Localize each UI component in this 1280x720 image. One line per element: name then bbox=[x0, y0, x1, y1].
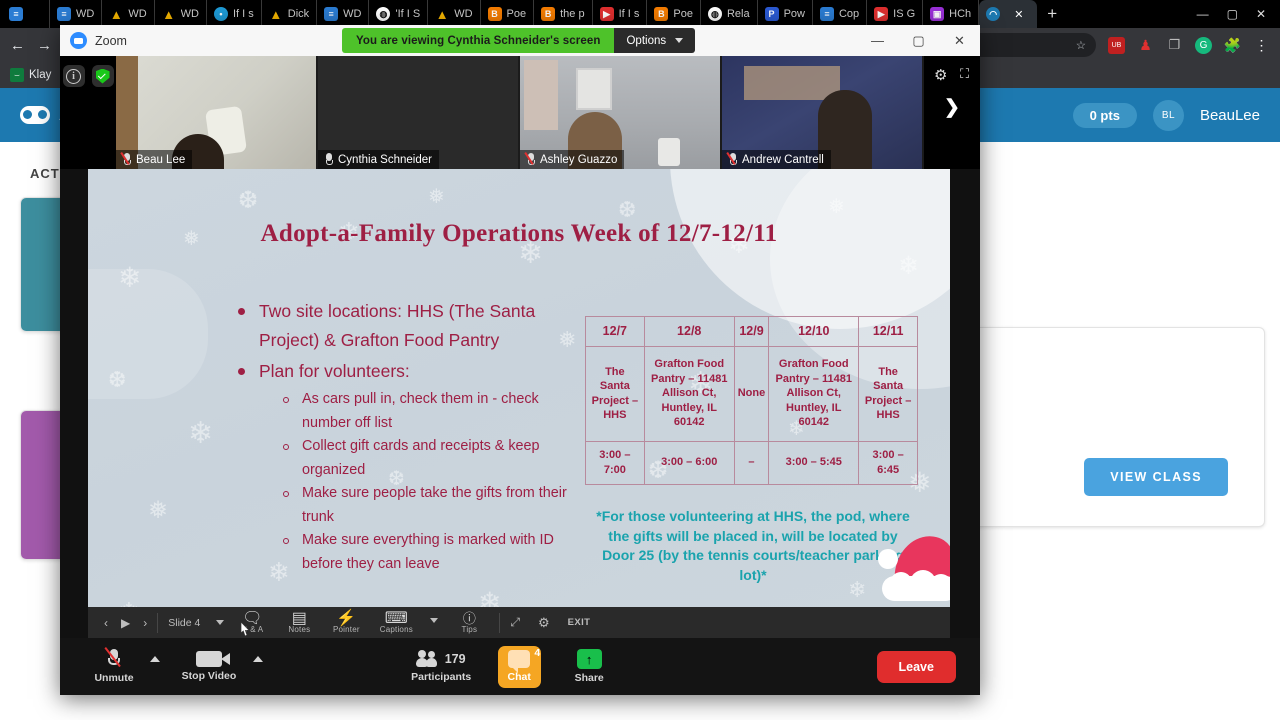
bookmark-icon: ⌣ bbox=[10, 68, 24, 82]
mic-off-icon bbox=[123, 153, 131, 166]
browser-tab[interactable]: ◍'If I S bbox=[369, 0, 428, 28]
bullet-text: Two site locations: HHS (The Santa Proje… bbox=[259, 297, 573, 355]
tips-label: Tips bbox=[462, 625, 478, 634]
table-header-cell: 12/9 bbox=[734, 317, 769, 347]
mouse-cursor-icon bbox=[240, 622, 252, 638]
tab-label: WD bbox=[128, 8, 146, 20]
table-cell-time: 3:00 – 6:00 bbox=[644, 441, 734, 484]
forward-icon[interactable]: → bbox=[37, 37, 52, 54]
santa-hat-icon bbox=[878, 534, 950, 609]
tab-label: IS G bbox=[893, 8, 915, 20]
table-cell-location: The Santa Project – HHS bbox=[586, 346, 645, 441]
youtube-icon: ▶ bbox=[874, 7, 888, 21]
notes-label: Notes bbox=[288, 625, 310, 634]
participant-nameplate: Andrew Cantrell bbox=[722, 150, 831, 169]
table-header-cell: 12/8 bbox=[644, 317, 734, 347]
close-icon[interactable]: ✕ bbox=[1014, 8, 1023, 21]
chat-label: Chat bbox=[508, 671, 531, 683]
puzzle-icon[interactable]: 🧩 bbox=[1224, 37, 1241, 54]
bullet-text: Make sure people take the gifts from the… bbox=[302, 482, 573, 529]
snowflake-icon: ❆ bbox=[618, 199, 636, 221]
zoom-bar-right: Leave bbox=[877, 651, 980, 683]
browser-tab[interactable]: ▶If I s bbox=[593, 0, 648, 28]
info-icon: i bbox=[66, 69, 81, 84]
divider bbox=[499, 613, 500, 633]
table-row: 3:00 – 7:00 3:00 – 6:00 – 3:00 – 5:45 3:… bbox=[586, 441, 918, 484]
snowflake-icon: ❅ bbox=[148, 499, 168, 523]
notes-icon: ▤ bbox=[292, 612, 307, 624]
video-tile[interactable]: Cynthia Schneider bbox=[318, 56, 520, 169]
card-color-stripe bbox=[21, 411, 61, 559]
shared-slide: ❄ ❅ ❆ ❄ ❅ ❄ ❆ ❄ ❅ ❄ ❆ ❄ ❅ ❄ ❆ ❄ ❅ ❄ ❆ ❄ … bbox=[88, 169, 950, 638]
table-cell-location: None bbox=[734, 346, 769, 441]
snowflake-icon: ❄ bbox=[898, 254, 919, 279]
zoom-control-bar: Unmute Stop Video 179 bbox=[60, 638, 980, 695]
participants-label: Participants bbox=[411, 671, 471, 683]
fit-screen-icon[interactable]: ⤢ bbox=[510, 615, 520, 630]
table-row: The Santa Project – HHS Grafton Food Pan… bbox=[586, 346, 918, 441]
browser-tab[interactable]: ▲Dick bbox=[262, 0, 317, 28]
maximize-icon[interactable]: ▢ bbox=[898, 25, 939, 56]
tab-label: Poe bbox=[673, 8, 693, 20]
card-color-stripe bbox=[21, 198, 61, 331]
tab-label: WD bbox=[343, 8, 361, 20]
zoom-window-title: Zoom bbox=[95, 34, 127, 48]
tab-label: Rela bbox=[727, 8, 750, 20]
stop-video-label: Stop Video bbox=[182, 670, 237, 682]
doc-icon: ≡ bbox=[9, 7, 23, 21]
minimize-icon[interactable]: — bbox=[857, 25, 898, 56]
browser-tab[interactable]: BPoe bbox=[481, 0, 535, 28]
slide-number-label: Slide 4 bbox=[168, 617, 200, 629]
encryption-button[interactable] bbox=[92, 65, 114, 87]
next-slide-button[interactable]: › bbox=[143, 616, 147, 630]
chat-button-inner[interactable]: 4 Chat bbox=[498, 646, 541, 688]
bookmark-item[interactable]: ⌣Klay bbox=[10, 68, 51, 82]
slide-selector[interactable]: Slide 4 bbox=[168, 617, 224, 629]
bullet-dot bbox=[238, 308, 245, 315]
mic-off-icon bbox=[108, 649, 121, 669]
exit-button[interactable]: EXIT bbox=[568, 617, 591, 628]
zoom-window-controls: — ▢ ✕ bbox=[857, 25, 980, 56]
table-cell-time: 3:00 – 5:45 bbox=[769, 441, 859, 484]
footnote-door: Door 25 bbox=[602, 547, 654, 563]
video-tile[interactable]: Ashley Guazzo bbox=[520, 56, 722, 169]
minimize-icon[interactable]: — bbox=[1197, 7, 1209, 21]
participants-count: 179 bbox=[445, 652, 466, 666]
browser-window-controls: — ▢ ✕ bbox=[1197, 7, 1280, 21]
tab-label: Dick bbox=[288, 8, 309, 20]
back-icon[interactable]: ← bbox=[10, 37, 25, 54]
tab-label: WD bbox=[454, 8, 472, 20]
table-header-cell: 12/10 bbox=[769, 317, 859, 347]
shield-icon bbox=[96, 69, 110, 84]
app-header-right: 0 pts BL BeauLee bbox=[1073, 100, 1260, 131]
table-cell-time: 3:00 – 7:00 bbox=[586, 441, 645, 484]
tab-label: 'If I S bbox=[395, 8, 420, 20]
chevron-down-icon[interactable] bbox=[216, 620, 224, 625]
globe-icon: ◍ bbox=[708, 7, 722, 21]
audio-options-chevron-icon[interactable] bbox=[150, 656, 160, 662]
browser-tab[interactable]: ▣HCh bbox=[923, 0, 979, 28]
table-header-cell: 12/11 bbox=[859, 317, 918, 347]
browser-tab[interactable]: •If I s bbox=[207, 0, 262, 28]
tab-label: HCh bbox=[949, 8, 971, 20]
slide-tools-group: 🗨 Q & A ▤ Notes ⚡ Pointer ⌨ Captions ⓘ T… bbox=[236, 612, 485, 634]
close-icon[interactable]: ✕ bbox=[1256, 7, 1266, 21]
share-screen-icon: ↑ bbox=[577, 649, 602, 669]
captions-icon: ⌨ bbox=[385, 612, 408, 624]
unmute-label: Unmute bbox=[94, 672, 133, 684]
browser-tab-active[interactable]: ◠✕ bbox=[979, 0, 1037, 28]
browser-tab[interactable]: ▲WD bbox=[102, 0, 154, 28]
browser-tab[interactable]: PPow bbox=[758, 0, 813, 28]
screen-share-banner: You are viewing Cynthia Schneider's scre… bbox=[342, 28, 695, 53]
table-header-row: 12/7 12/8 12/9 12/10 12/11 bbox=[586, 317, 918, 347]
table-header-cell: 12/7 bbox=[586, 317, 645, 347]
meeting-status-icons: i bbox=[60, 56, 116, 169]
filmstrip-controls: ⚙ ⛶ ❯ bbox=[924, 56, 980, 169]
bullet-text: Collect gift cards and receipts & keep o… bbox=[302, 435, 573, 482]
options-label: Options bbox=[626, 35, 666, 47]
doc-icon: ≡ bbox=[820, 7, 834, 21]
slideshow-toolbar: ‹ ▶ › Slide 4 🗨 Q & A ▤ Notes ⚡ Pointer … bbox=[88, 607, 950, 638]
table-cell-time: – bbox=[734, 441, 769, 484]
share-options-button[interactable]: Options bbox=[614, 28, 695, 53]
bullet-item: Collect gift cards and receipts & keep o… bbox=[283, 435, 573, 482]
bookmark-star-icon[interactable]: ☆ bbox=[1076, 38, 1086, 52]
browser-tab[interactable]: ≡ bbox=[2, 0, 50, 28]
tab-label: Poe bbox=[507, 8, 527, 20]
zoom-logo-icon bbox=[70, 32, 87, 49]
chat-button[interactable]: 4 Chat bbox=[484, 642, 554, 691]
share-label: Share bbox=[575, 672, 604, 684]
blogger-icon: B bbox=[654, 7, 668, 21]
tab-label: If I s bbox=[233, 8, 254, 20]
mic-off-icon bbox=[729, 153, 737, 166]
tab-label: the p bbox=[560, 8, 584, 20]
browser-tab[interactable]: ≡WD bbox=[50, 0, 102, 28]
browser-tab[interactable]: ≡Cop bbox=[813, 0, 867, 28]
viewing-screen-label: You are viewing Cynthia Schneider's scre… bbox=[342, 28, 614, 53]
powerpoint-icon: P bbox=[765, 7, 779, 21]
copy-extension-icon[interactable]: ❐ bbox=[1166, 37, 1183, 54]
tab-label: If I s bbox=[619, 8, 640, 20]
bullet-item: Make sure people take the gifts from the… bbox=[283, 482, 573, 529]
doc-icon: ≡ bbox=[324, 7, 338, 21]
participant-nameplate: Cynthia Schneider bbox=[318, 150, 439, 169]
slide-bullet-list: Two site locations: HHS (The Santa Proje… bbox=[238, 297, 573, 576]
bullet-text: Plan for volunteers: bbox=[259, 357, 410, 386]
chrome-menu-icon[interactable]: ⋮ bbox=[1253, 37, 1270, 54]
next-page-arrow-icon[interactable]: ❯ bbox=[944, 96, 960, 119]
browser-tab[interactable]: Bthe p bbox=[534, 0, 592, 28]
drive-icon: ▲ bbox=[109, 7, 123, 21]
gear-icon[interactable]: ⚙ bbox=[934, 66, 947, 84]
table-cell-location: Grafton Food Pantry – 11481 Allison Ct, … bbox=[769, 346, 859, 441]
participants-filmstrip: i Beau Lee Cynthia Schneider bbox=[60, 56, 980, 169]
snowflake-icon: ❄ bbox=[188, 419, 213, 449]
browser-tab[interactable]: ▲WD bbox=[428, 0, 480, 28]
view-class-button[interactable]: VIEW CLASS bbox=[1084, 458, 1228, 496]
snowflake-icon: ❅ bbox=[428, 187, 445, 207]
bullet-text: As cars pull in, check them in - check n… bbox=[302, 388, 573, 435]
doc-icon: ≡ bbox=[57, 7, 71, 21]
blogger-icon: B bbox=[488, 7, 502, 21]
avatar[interactable]: BL bbox=[1153, 100, 1184, 131]
bullet-circle bbox=[283, 444, 289, 450]
video-tile[interactable]: Andrew Cantrell bbox=[722, 56, 924, 169]
bullet-item: As cars pull in, check them in - check n… bbox=[283, 388, 573, 435]
footnote-part-1: *For those volunteering at HHS, the pod,… bbox=[596, 508, 909, 544]
divider bbox=[157, 613, 158, 633]
bullet-circle bbox=[283, 397, 289, 403]
new-tab-button[interactable]: + bbox=[1037, 4, 1067, 24]
meeting-info-button[interactable]: i bbox=[63, 65, 85, 87]
user-name: BeauLee bbox=[1200, 107, 1260, 124]
drive-icon: ▲ bbox=[162, 7, 176, 21]
pointer-button[interactable]: ⚡ Pointer bbox=[330, 612, 362, 634]
gear-icon[interactable]: ⚙ bbox=[538, 615, 550, 631]
zoom-bar-left: Unmute Stop Video bbox=[60, 642, 272, 691]
points-badge: 0 pts bbox=[1073, 103, 1137, 128]
mic-on-icon bbox=[325, 153, 333, 166]
goggles-icon bbox=[20, 106, 50, 124]
goggles-icon: ◠ bbox=[986, 7, 1000, 21]
captions-chevron-down-icon[interactable] bbox=[430, 618, 438, 623]
snowflake-icon: ❆ bbox=[108, 369, 126, 391]
browser-tab[interactable]: BPoe bbox=[647, 0, 701, 28]
camera-icon bbox=[196, 651, 222, 667]
bullet-item: Make sure everything is marked with ID b… bbox=[283, 529, 573, 576]
video-tiles: Beau Lee Cynthia Schneider Ashley Guazzo bbox=[116, 56, 924, 169]
tips-icon: ⓘ bbox=[463, 612, 476, 624]
maximize-icon[interactable]: ▢ bbox=[1227, 7, 1238, 21]
captions-button[interactable]: ⌨ Captions bbox=[377, 612, 415, 634]
pointer-label: Pointer bbox=[333, 625, 360, 634]
participant-name: Ashley Guazzo bbox=[540, 154, 617, 166]
table-cell-location: The Santa Project – HHS bbox=[859, 346, 918, 441]
table-cell-location: Grafton Food Pantry – 11481 Allison Ct, … bbox=[644, 346, 734, 441]
snowflake-icon: ❅ bbox=[828, 197, 845, 217]
drive-icon: ▲ bbox=[435, 7, 449, 21]
participant-nameplate: Beau Lee bbox=[116, 150, 192, 169]
site-icon: • bbox=[214, 7, 228, 21]
bullet-circle bbox=[283, 538, 289, 544]
snowflake-icon: ❄ bbox=[118, 264, 141, 292]
red-extension-icon[interactable]: ♟ bbox=[1137, 37, 1154, 54]
slide-nav-group: ‹ ▶ › bbox=[88, 616, 147, 630]
bullet-text: Make sure everything is marked with ID b… bbox=[302, 529, 573, 576]
notes-button[interactable]: ▤ Notes bbox=[283, 612, 315, 634]
mic-off-icon bbox=[527, 153, 535, 166]
participant-name: Andrew Cantrell bbox=[742, 154, 824, 166]
tab-label: Pow bbox=[784, 8, 805, 20]
tab-label: Cop bbox=[839, 8, 859, 20]
bullet-circle bbox=[283, 491, 289, 497]
bookmark-label: Klay bbox=[29, 69, 51, 81]
chat-unread-count: 4 bbox=[534, 647, 540, 659]
participant-name: Cynthia Schneider bbox=[338, 154, 432, 166]
youtube-icon: ▶ bbox=[600, 7, 614, 21]
participants-button[interactable]: 179 Participants bbox=[398, 642, 484, 691]
tab-label: WD bbox=[181, 8, 199, 20]
tab-label: WD bbox=[76, 8, 94, 20]
browser-tab[interactable]: ◍Rela bbox=[701, 0, 758, 28]
browser-tab[interactable]: ▲WD bbox=[155, 0, 207, 28]
video-tile[interactable]: Beau Lee bbox=[116, 56, 318, 169]
fullscreen-icon[interactable]: ⛶ bbox=[960, 66, 969, 82]
chevron-down-icon bbox=[675, 38, 683, 43]
browser-tab[interactable]: ≡WD bbox=[317, 0, 369, 28]
drive-icon: ▲ bbox=[269, 7, 283, 21]
play-slideshow-button[interactable]: ▶ bbox=[121, 616, 130, 630]
share-button[interactable]: ↑ Share bbox=[554, 642, 624, 691]
schedule-table: 12/7 12/8 12/9 12/10 12/11 The Santa Pro… bbox=[585, 316, 918, 485]
video-options-chevron-icon[interactable] bbox=[253, 656, 263, 662]
zoom-window: Zoom — ▢ ✕ You are viewing Cynthia Schne… bbox=[60, 25, 980, 695]
ublock-icon[interactable]: UB bbox=[1108, 37, 1125, 54]
blogger-icon: B bbox=[541, 7, 555, 21]
participant-name: Beau Lee bbox=[136, 154, 185, 166]
participant-nameplate: Ashley Guazzo bbox=[520, 150, 624, 169]
tips-button[interactable]: ⓘ Tips bbox=[453, 612, 485, 634]
prev-slide-button[interactable]: ‹ bbox=[104, 616, 108, 630]
leave-button[interactable]: Leave bbox=[877, 651, 956, 683]
captions-label: Captions bbox=[380, 625, 413, 634]
unmute-button[interactable]: Unmute bbox=[84, 642, 144, 691]
close-icon[interactable]: ✕ bbox=[939, 25, 980, 56]
slide-title: Adopt-a-Family Operations Week of 12/7-1… bbox=[88, 220, 950, 248]
participants-icon: 179 bbox=[417, 650, 466, 668]
footnote-part-2: (by the tennis courts/teacher parking lo… bbox=[654, 547, 904, 583]
chat-bubble-icon bbox=[508, 650, 530, 668]
class-card-right[interactable]: VIEW CLASS bbox=[965, 327, 1265, 527]
bullet-item: Two site locations: HHS (The Santa Proje… bbox=[238, 297, 573, 355]
globe-icon: ◍ bbox=[376, 7, 390, 21]
profile-icon: ▣ bbox=[930, 7, 944, 21]
browser-tab[interactable]: ▶IS G bbox=[867, 0, 923, 28]
snowflake-icon: ❆ bbox=[238, 189, 258, 213]
section-label: ACT bbox=[30, 166, 60, 181]
bullet-item: Plan for volunteers: bbox=[238, 357, 573, 386]
slide-footnote: *For those volunteering at HHS, the pod,… bbox=[593, 507, 913, 585]
zoom-bar-center: 179 Participants 4 Chat ↑ Share bbox=[398, 642, 624, 691]
stop-video-button[interactable]: Stop Video bbox=[171, 642, 247, 691]
browser-tabstrip: ≡ ≡WD ▲WD ▲WD •If I s ▲Dick ≡WD ◍'If I S… bbox=[0, 0, 1280, 28]
bullet-dot bbox=[238, 368, 245, 375]
decoration-band bbox=[88, 269, 208, 399]
pointer-icon: ⚡ bbox=[336, 612, 356, 624]
table-cell-time: 3:00 – 6:45 bbox=[859, 441, 918, 484]
grammarly-icon[interactable]: G bbox=[1195, 37, 1212, 54]
